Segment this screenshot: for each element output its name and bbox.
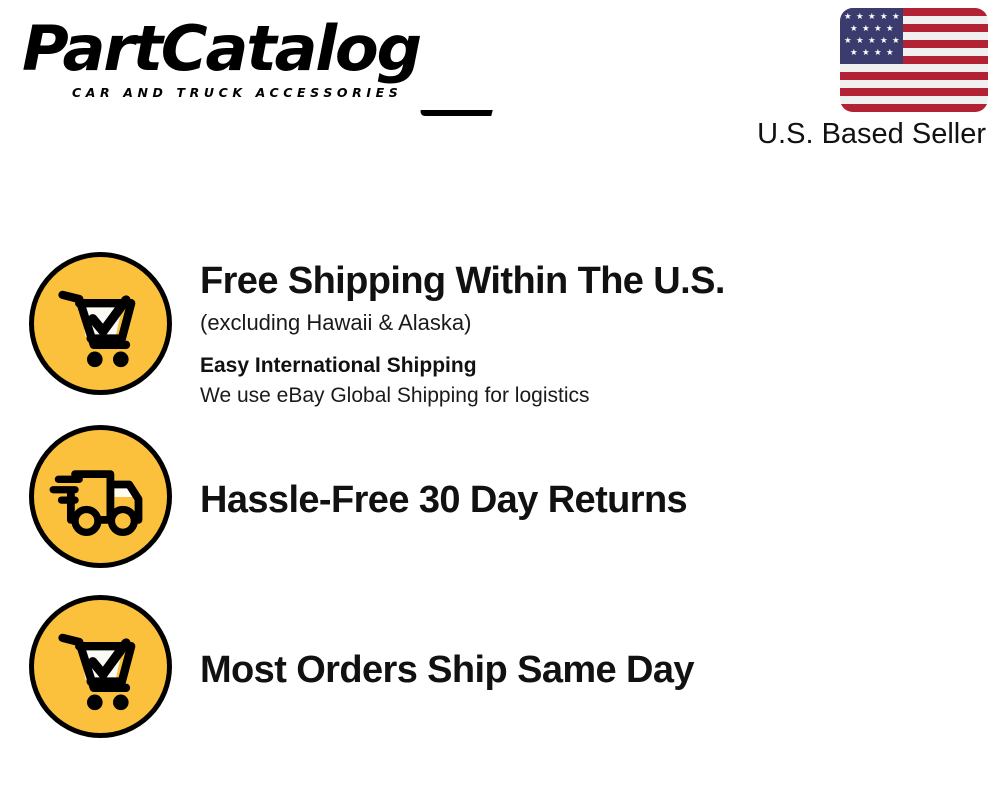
delivery-truck-icon [29, 425, 172, 568]
feature-secondary-subtext: We use eBay Global Shipping for logistic… [200, 382, 1000, 410]
feature-icon-wrap [0, 252, 200, 395]
flag-stripe-red-5 [840, 72, 988, 80]
feature-text: Free Shipping Within The U.S. (excluding… [200, 252, 1000, 410]
seller-label: U.S. Based Seller [708, 118, 986, 150]
flag-stripe-red-7 [840, 104, 988, 112]
us-flag-icon: ★ ★ ★ ★ ★ ★ ★ ★ ★ ★ ★ ★ ★ ★ ★ ★ ★ ★ [840, 8, 988, 112]
feature-secondary-heading: Easy International Shipping [200, 352, 1000, 380]
flag-stripe-white-4 [840, 64, 988, 72]
feature-icon-wrap [0, 425, 200, 568]
feature-heading: Most Orders Ship Same Day [200, 647, 1000, 693]
brand-tagline: CAR AND TRUCK ACCESSORIES [72, 86, 492, 100]
shopping-cart-check-icon [29, 595, 172, 738]
brand-wordmark: PartCatalog [22, 18, 506, 80]
shopping-cart-check-icon [29, 252, 172, 395]
flag-stripe-red-6 [840, 88, 988, 96]
feature-text: Most Orders Ship Same Day [200, 595, 1000, 693]
brand-logo[interactable]: PartCatalog CAR AND TRUCK ACCESSORIES [22, 18, 492, 118]
feature-row: Free Shipping Within The U.S. (excluding… [0, 252, 1000, 427]
feature-text: Hassle-Free 30 Day Returns [200, 425, 1000, 523]
feature-icon-wrap [0, 595, 200, 738]
flag-stripe-white-6 [840, 96, 988, 104]
feature-subtext: (excluding Hawaii & Alaska) [200, 308, 1000, 338]
page-header: PartCatalog CAR AND TRUCK ACCESSORIES ★ … [0, 0, 1000, 170]
brand-underline-swoosh [419, 110, 492, 116]
flag-canton: ★ ★ ★ ★ ★ ★ ★ ★ ★ ★ ★ ★ ★ ★ ★ ★ ★ ★ [840, 8, 903, 64]
feature-heading: Hassle-Free 30 Day Returns [200, 477, 1000, 523]
feature-row: Most Orders Ship Same Day [0, 595, 1000, 745]
us-based-seller-badge: ★ ★ ★ ★ ★ ★ ★ ★ ★ ★ ★ ★ ★ ★ ★ ★ ★ ★ U.S.… [708, 8, 988, 150]
flag-stripe-white-5 [840, 80, 988, 88]
feature-row: Hassle-Free 30 Day Returns [0, 425, 1000, 575]
feature-heading: Free Shipping Within The U.S. [200, 258, 1000, 304]
